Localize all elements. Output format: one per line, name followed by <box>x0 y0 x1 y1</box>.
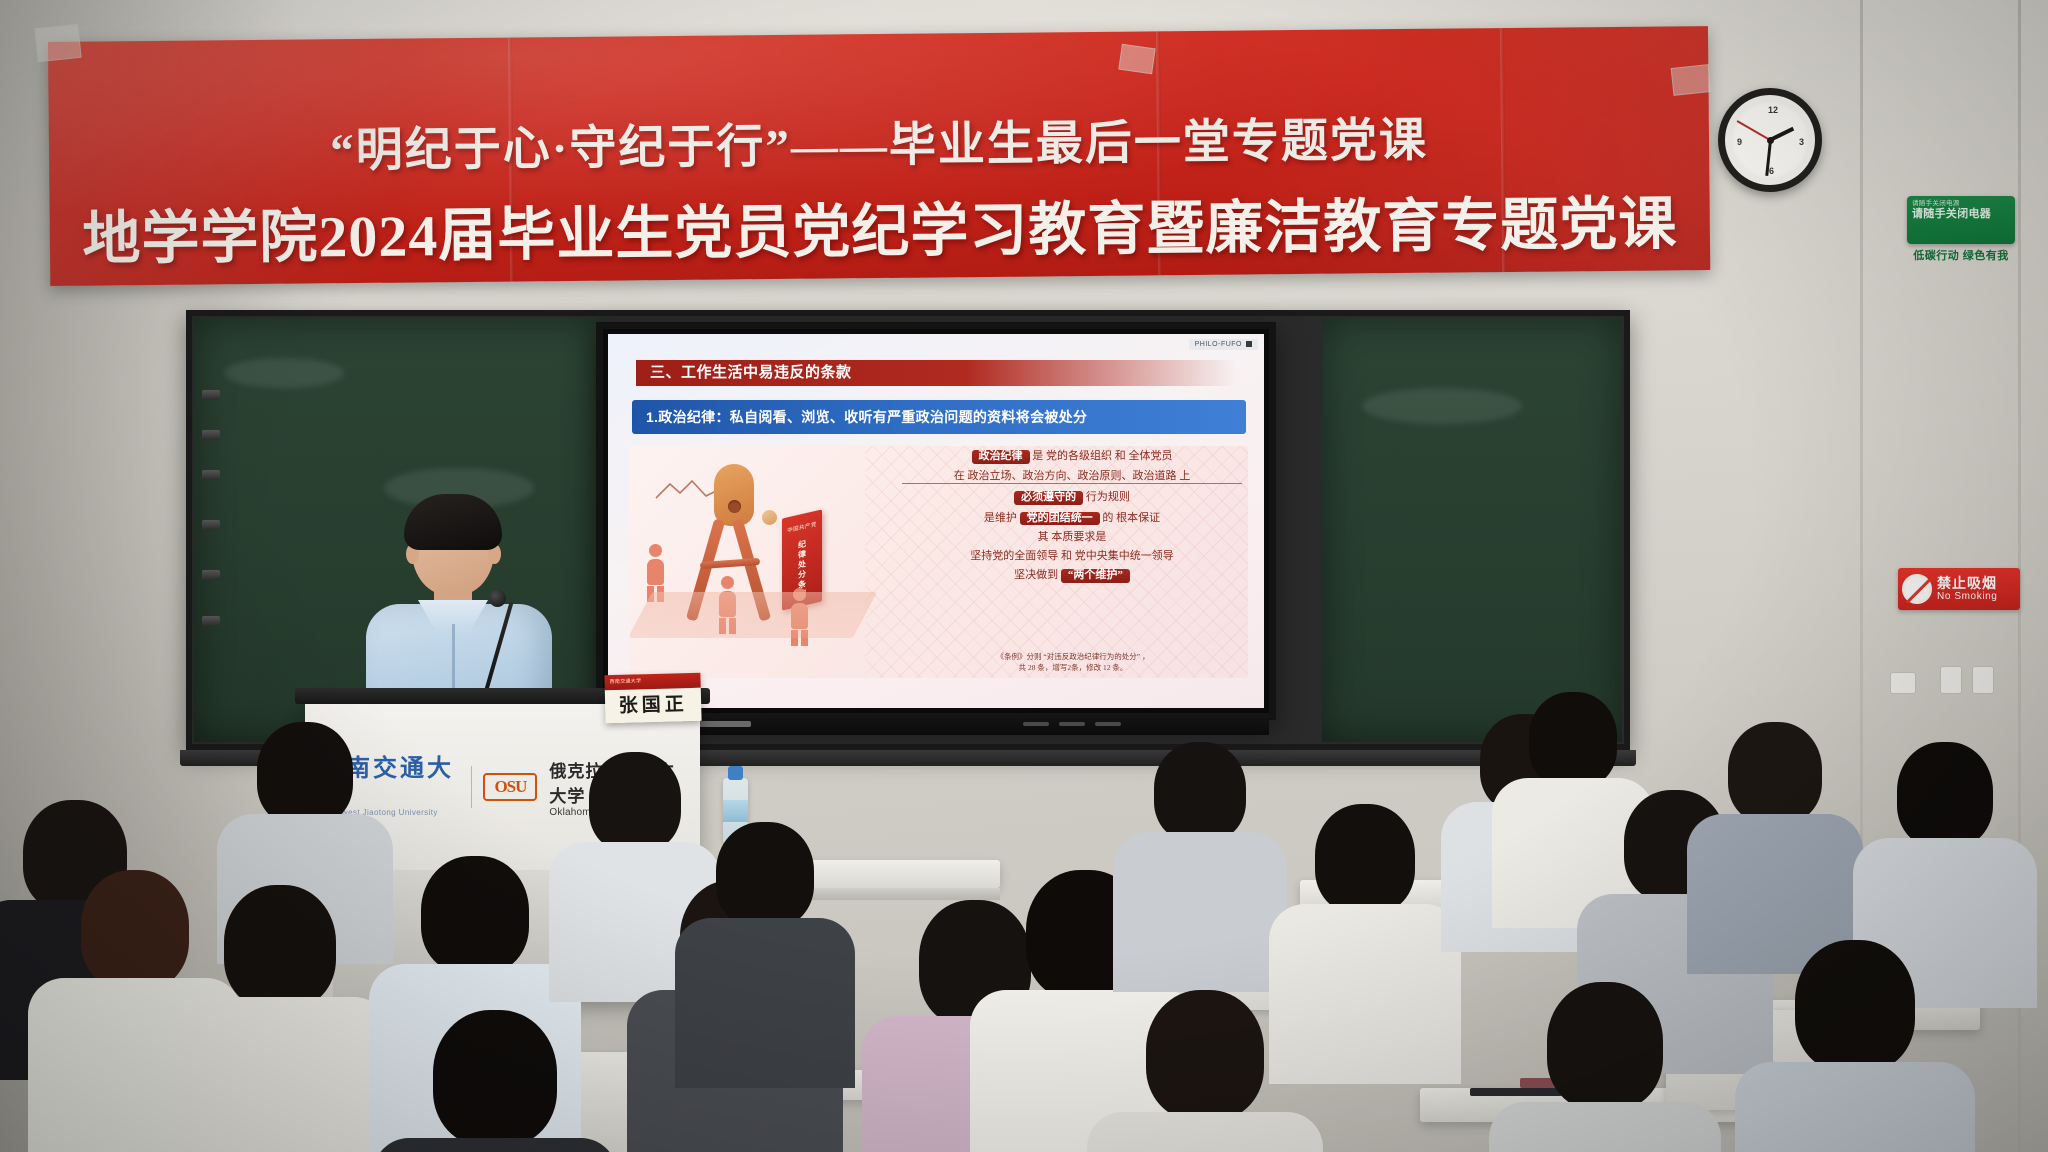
slide-section-title: 三、工作生活中易违反的条款 <box>636 360 1236 386</box>
audience-head <box>257 722 353 826</box>
audience-body <box>373 1138 617 1152</box>
projector-display[interactable]: PHILO-FUFO 三、工作生活中易违反的条款 1.政治纪律：私自阅看、浏览、… <box>596 322 1276 720</box>
audience-member <box>1125 742 1275 942</box>
chalkboard-slider-4[interactable] <box>202 520 220 530</box>
chalkboard-slider-6[interactable] <box>202 616 220 626</box>
banner-tape-left <box>34 24 81 62</box>
audience-head <box>1795 940 1915 1072</box>
compass-head <box>714 464 754 526</box>
slide-subtitle: 1.政治纪律：私自阅看、浏览、收听有严重政治问题的资料将会被处分 <box>632 400 1246 434</box>
audience-body <box>1113 832 1287 992</box>
slide-chip-3: 必须遵守的 <box>1014 491 1083 505</box>
audience-body <box>1269 904 1461 1084</box>
audience-head <box>1529 692 1617 788</box>
wall-outlet-3[interactable] <box>1972 666 1994 694</box>
chalkboard-slider-3[interactable] <box>202 470 220 480</box>
wall-clock: 12 3 6 9 <box>1718 88 1822 192</box>
display-button-1[interactable] <box>1023 722 1049 726</box>
eco-power-sign: 请随手关闭电源 请随手关闭电器 <box>1907 196 2015 244</box>
banner-crease-2 <box>1156 31 1162 275</box>
slide-watermark: PHILO-FUFO <box>1189 339 1258 350</box>
chalkboard-slider-2[interactable] <box>202 430 220 440</box>
compass-ball-right <box>762 510 777 525</box>
chalkboard-panel-right <box>1322 318 1622 742</box>
slide-text-line-4: 是维护 党的团结统一 的 根本保证 <box>902 512 1242 526</box>
logo-divider <box>471 766 472 808</box>
display-control-bar[interactable] <box>603 713 1269 735</box>
slide-text-4: 的 根本保证 <box>1102 512 1160 524</box>
chalk-smudge <box>224 358 344 388</box>
no-smoking-icon <box>1902 574 1932 604</box>
audience-head <box>1146 990 1264 1120</box>
nameplate-name: 张国正 <box>605 688 702 724</box>
banner-line-2: 地学学院2024届毕业生党员党纪学习教育暨廉洁教育专题党课 <box>49 176 1710 276</box>
slide-watermark-text: PHILO-FUFO <box>1195 341 1242 348</box>
slide-text-column: 政治纪律 是 党的各级组织 和 全体党员 在 政治立场、政治方向、政治原则、政治… <box>902 450 1242 590</box>
slide-body: 中国共产党 纪律处分条例 <box>630 446 1248 678</box>
wall-outlet-2[interactable] <box>1940 666 1962 694</box>
wall-outlet-1[interactable] <box>1890 672 1916 694</box>
audience-member <box>1780 940 1930 1152</box>
audience-head <box>421 856 529 974</box>
audience-body <box>675 918 855 1088</box>
audience-body <box>170 997 390 1152</box>
slide-text-line-3: 必须遵守的 行为规则 <box>902 491 1242 505</box>
no-smoking-sign: 禁止吸烟 No Smoking <box>1898 568 2020 610</box>
illustration-floor <box>630 592 877 638</box>
presentation-slide: PHILO-FUFO 三、工作生活中易违反的条款 1.政治纪律：私自阅看、浏览、… <box>608 334 1264 708</box>
slide-watermark-square <box>1246 341 1252 347</box>
no-smoking-label-en: No Smoking <box>1937 591 1997 603</box>
slide-text-line-7: 坚决做到 “两个维护” <box>902 569 1242 583</box>
clock-numeral-9: 9 <box>1737 137 1742 147</box>
audience-head <box>1547 982 1663 1110</box>
chalk-smudge <box>1362 388 1522 424</box>
slide-text-1: 是 党的各级组织 和 全体党员 <box>1032 450 1172 462</box>
compass-hole <box>728 500 741 513</box>
display-button-2[interactable] <box>1059 722 1085 726</box>
figure-body <box>647 559 664 585</box>
audience-member <box>420 1010 570 1152</box>
audience-head <box>433 1010 557 1146</box>
audience-member <box>690 822 840 1042</box>
water-bottle-cap <box>728 766 743 780</box>
figure-head <box>649 544 662 557</box>
osu-logo-mark: OSU <box>483 773 537 801</box>
speaker-hair <box>404 494 502 550</box>
slide-chip-4: 党的团结统一 <box>1020 512 1100 526</box>
microphone-head[interactable] <box>489 590 506 607</box>
audience-head <box>716 822 814 928</box>
slide-text-line-2: 在 政治立场、政治方向、政治原则、政治道路 上 <box>902 471 1242 485</box>
slide-footnote-line-2: 共 28 条，增写2条，修改 12 条。 <box>908 662 1238 674</box>
slide-prefix-4: 是维护 <box>984 512 1017 524</box>
display-power-button[interactable] <box>699 721 751 727</box>
clock-numeral-6: 6 <box>1769 166 1774 176</box>
event-banner: “明纪于心·守纪于行”——毕业生最后一堂专题党课 地学学院2024届毕业生党员党… <box>48 26 1710 286</box>
lecture-hall-photo: “明纪于心·守纪于行”——毕业生最后一堂专题党课 地学学院2024届毕业生党员党… <box>0 0 2048 1152</box>
audience-member <box>1130 990 1280 1152</box>
banner-crease-3 <box>1500 28 1506 272</box>
slide-prefix-7: 坚决做到 <box>1014 569 1058 581</box>
slide-footnote-line-1: 《条例》分则 “对违反政治纪律行为的处分” ， <box>908 651 1238 663</box>
eco-sign-small-line: 请随手关闭电源 <box>1912 200 2010 208</box>
audience-head <box>1728 722 1822 824</box>
audience-member <box>1870 742 2020 952</box>
chalkboard-slider-5[interactable] <box>202 570 220 580</box>
audience-member <box>1530 982 1680 1152</box>
slide-illustration: 中国共产党 纪律处分条例 <box>640 452 850 642</box>
slide-text-line-5: 其 本质要求是 <box>902 532 1242 544</box>
audience-member <box>1700 722 1850 922</box>
audience-member <box>1290 804 1440 1034</box>
clock-center-pin <box>1767 137 1774 144</box>
slide-footnote: 《条例》分则 “对违反政治纪律行为的处分” ， 共 28 条，增写2条，修改 1… <box>908 651 1238 674</box>
audience-body <box>1087 1112 1323 1152</box>
audience-head <box>1154 742 1246 842</box>
audience-body <box>1735 1062 1975 1152</box>
banner-tape-right <box>1671 64 1712 96</box>
chalkboard-slider-1[interactable] <box>202 390 220 400</box>
audience-head <box>224 885 336 1009</box>
no-smoking-label-cn: 禁止吸烟 <box>1937 575 1997 591</box>
slide-text-line-6: 坚持党的全面领导 和 党中央集中统一领导 <box>902 551 1242 563</box>
slide-chip-1: 政治纪律 <box>972 450 1030 464</box>
clock-numeral-12: 12 <box>1768 105 1778 115</box>
eco-sign-main-line: 请随手关闭电器 <box>1912 208 2010 222</box>
banner-crease-1 <box>508 38 514 282</box>
figure-head <box>721 576 734 589</box>
book-subtitle: 中国共产党 <box>782 519 822 536</box>
slide-text-3: 行为规则 <box>1086 491 1130 503</box>
audience-head <box>589 752 681 852</box>
banner-tape-mid <box>1118 44 1155 74</box>
audience-head <box>1897 742 1993 848</box>
audience-head <box>81 870 189 990</box>
eco-sign-subtitle: 低碳行动 绿色有我 <box>1907 247 2015 263</box>
audience-body <box>1489 1102 1721 1152</box>
audience-member <box>205 885 355 1152</box>
audience-head <box>1315 804 1415 914</box>
display-button-3[interactable] <box>1095 722 1121 726</box>
slide-chip-7: “两个维护” <box>1061 569 1130 583</box>
clock-numeral-3: 3 <box>1799 137 1804 147</box>
banner-line-1: “明纪于心·守纪于行”——毕业生最后一堂专题党课 <box>49 98 1710 183</box>
speaker-nameplate: 西南交通大学 张国正 <box>604 673 701 723</box>
water-bottle-label <box>723 800 748 822</box>
slide-text-line-1: 政治纪律 是 党的各级组织 和 全体党员 <box>902 450 1242 464</box>
